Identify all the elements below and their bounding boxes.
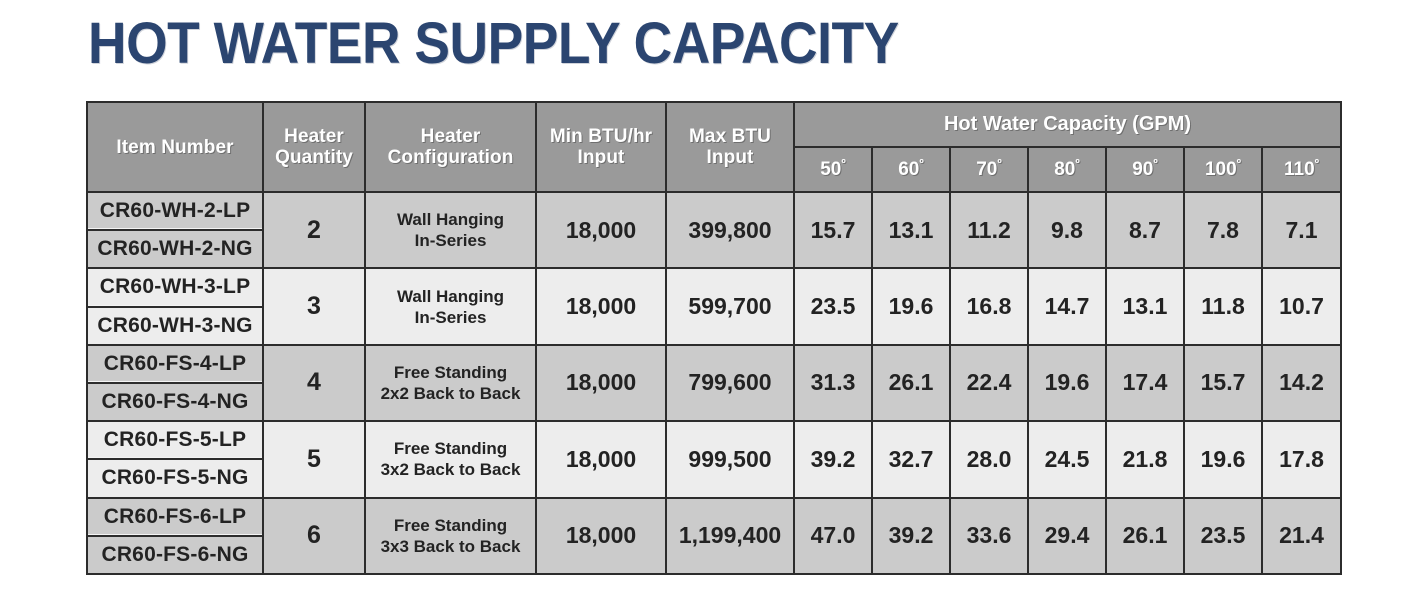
cell-item-number: CR60-WH-2-LP CR60-WH-2-NG bbox=[87, 192, 263, 268]
table-row: CR60-FS-6-LP CR60-FS-6-NG 6 Free Standin… bbox=[87, 498, 1341, 574]
config-line2: In-Series bbox=[366, 230, 535, 251]
cell-max-btu: 799,600 bbox=[666, 345, 794, 421]
cell-heater-quantity: 5 bbox=[263, 421, 365, 497]
col-header-heater-configuration: Heater Configuration bbox=[365, 102, 536, 192]
config-line1: Free Standing bbox=[366, 438, 535, 459]
header-row-primary: Item Number Heater Quantity Heater Confi… bbox=[87, 102, 1341, 147]
cell-min-btu: 18,000 bbox=[536, 498, 666, 574]
cell-gpm-50: 15.7 bbox=[794, 192, 872, 268]
cell-gpm-80: 29.4 bbox=[1028, 498, 1106, 574]
cell-item-number: CR60-FS-4-LP CR60-FS-4-NG bbox=[87, 345, 263, 421]
config-line2: 3x2 Back to Back bbox=[366, 459, 535, 480]
cell-item-number: CR60-FS-6-LP CR60-FS-6-NG bbox=[87, 498, 263, 574]
cell-heater-configuration: Free Standing 2x2 Back to Back bbox=[365, 345, 536, 421]
cell-gpm-70: 33.6 bbox=[950, 498, 1028, 574]
col-header-hot-water-capacity-group: Hot Water Capacity (GPM) bbox=[794, 102, 1341, 147]
config-line1: Free Standing bbox=[366, 362, 535, 383]
cell-min-btu: 18,000 bbox=[536, 268, 666, 344]
cell-gpm-90: 13.1 bbox=[1106, 268, 1184, 344]
config-line2: 2x2 Back to Back bbox=[366, 383, 535, 404]
cell-heater-quantity: 6 bbox=[263, 498, 365, 574]
col-header-heater-configuration-line2: Configuration bbox=[366, 147, 535, 168]
item-number-ng: CR60-FS-4-NG bbox=[88, 384, 262, 420]
capacity-table: Item Number Heater Quantity Heater Confi… bbox=[86, 101, 1342, 575]
config-line1: Free Standing bbox=[366, 515, 535, 536]
cell-max-btu: 399,800 bbox=[666, 192, 794, 268]
cell-heater-quantity: 4 bbox=[263, 345, 365, 421]
cell-gpm-90: 26.1 bbox=[1106, 498, 1184, 574]
item-number-lp: CR60-FS-5-LP bbox=[88, 422, 262, 460]
col-header-temp-100: 100º bbox=[1184, 147, 1262, 192]
temp-110-value: 110 bbox=[1284, 159, 1315, 180]
col-header-temp-110: 110º bbox=[1262, 147, 1341, 192]
cell-gpm-100: 15.7 bbox=[1184, 345, 1262, 421]
cell-gpm-110: 21.4 bbox=[1262, 498, 1341, 574]
cell-gpm-60: 26.1 bbox=[872, 345, 950, 421]
item-number-lp: CR60-FS-4-LP bbox=[88, 346, 262, 384]
cell-heater-quantity: 2 bbox=[263, 192, 365, 268]
cell-gpm-110: 17.8 bbox=[1262, 421, 1341, 497]
item-number-lp: CR60-WH-2-LP bbox=[88, 193, 262, 231]
cell-gpm-70: 22.4 bbox=[950, 345, 1028, 421]
degree-icon: º bbox=[1315, 156, 1319, 170]
cell-gpm-110: 10.7 bbox=[1262, 268, 1341, 344]
cell-heater-configuration: Free Standing 3x3 Back to Back bbox=[365, 498, 536, 574]
cell-min-btu: 18,000 bbox=[536, 192, 666, 268]
cell-max-btu: 999,500 bbox=[666, 421, 794, 497]
table-head: Item Number Heater Quantity Heater Confi… bbox=[87, 102, 1341, 192]
cell-gpm-100: 7.8 bbox=[1184, 192, 1262, 268]
col-header-item-number: Item Number bbox=[87, 102, 263, 192]
col-header-heater-configuration-line1: Heater bbox=[366, 126, 535, 147]
page-title: HOT WATER SUPPLY CAPACITY bbox=[88, 8, 899, 80]
config-line1: Wall Hanging bbox=[366, 286, 535, 307]
cell-item-number: CR60-WH-3-LP CR60-WH-3-NG bbox=[87, 268, 263, 344]
cell-gpm-100: 23.5 bbox=[1184, 498, 1262, 574]
cell-gpm-90: 21.8 bbox=[1106, 421, 1184, 497]
col-header-max-btu: Max BTU Input bbox=[666, 102, 794, 192]
temp-70-value: 70 bbox=[976, 159, 997, 180]
col-header-temp-80: 80º bbox=[1028, 147, 1106, 192]
temp-50-value: 50 bbox=[820, 159, 841, 180]
cell-gpm-110: 7.1 bbox=[1262, 192, 1341, 268]
cell-min-btu: 18,000 bbox=[536, 345, 666, 421]
item-number-ng: CR60-FS-6-NG bbox=[88, 537, 262, 573]
degree-icon: º bbox=[1237, 156, 1241, 170]
col-header-max-btu-line1: Max BTU bbox=[667, 126, 793, 147]
cell-item-number: CR60-FS-5-LP CR60-FS-5-NG bbox=[87, 421, 263, 497]
table-body: CR60-WH-2-LP CR60-WH-2-NG 2 Wall Hanging… bbox=[87, 192, 1341, 574]
cell-gpm-80: 9.8 bbox=[1028, 192, 1106, 268]
cell-max-btu: 1,199,400 bbox=[666, 498, 794, 574]
table-row: CR60-FS-4-LP CR60-FS-4-NG 4 Free Standin… bbox=[87, 345, 1341, 421]
degree-icon: º bbox=[919, 156, 923, 170]
col-header-heater-quantity-line2: Quantity bbox=[264, 147, 364, 168]
cell-gpm-100: 11.8 bbox=[1184, 268, 1262, 344]
col-header-temp-50: 50º bbox=[794, 147, 872, 192]
cell-max-btu: 599,700 bbox=[666, 268, 794, 344]
item-number-lp: CR60-WH-3-LP bbox=[88, 269, 262, 307]
cell-gpm-70: 16.8 bbox=[950, 268, 1028, 344]
temp-80-value: 80 bbox=[1054, 159, 1075, 180]
cell-gpm-70: 11.2 bbox=[950, 192, 1028, 268]
degree-icon: º bbox=[1075, 156, 1079, 170]
cell-gpm-110: 14.2 bbox=[1262, 345, 1341, 421]
item-number-ng: CR60-WH-2-NG bbox=[88, 231, 262, 267]
temp-90-value: 90 bbox=[1132, 159, 1153, 180]
cell-gpm-50: 47.0 bbox=[794, 498, 872, 574]
table-row: CR60-WH-2-LP CR60-WH-2-NG 2 Wall Hanging… bbox=[87, 192, 1341, 268]
cell-gpm-90: 17.4 bbox=[1106, 345, 1184, 421]
cell-gpm-80: 14.7 bbox=[1028, 268, 1106, 344]
cell-min-btu: 18,000 bbox=[536, 421, 666, 497]
cell-gpm-90: 8.7 bbox=[1106, 192, 1184, 268]
cell-gpm-100: 19.6 bbox=[1184, 421, 1262, 497]
cell-gpm-80: 19.6 bbox=[1028, 345, 1106, 421]
config-line2: 3x3 Back to Back bbox=[366, 536, 535, 557]
cell-gpm-50: 23.5 bbox=[794, 268, 872, 344]
cell-gpm-60: 32.7 bbox=[872, 421, 950, 497]
cell-heater-configuration: Free Standing 3x2 Back to Back bbox=[365, 421, 536, 497]
col-header-min-btu: Min BTU/hr Input bbox=[536, 102, 666, 192]
col-header-heater-quantity: Heater Quantity bbox=[263, 102, 365, 192]
config-line2: In-Series bbox=[366, 307, 535, 328]
item-number-ng: CR60-WH-3-NG bbox=[88, 308, 262, 344]
cell-gpm-50: 39.2 bbox=[794, 421, 872, 497]
col-header-min-btu-line2: Input bbox=[537, 147, 665, 168]
col-header-max-btu-line2: Input bbox=[667, 147, 793, 168]
temp-60-value: 60 bbox=[898, 159, 919, 180]
temp-100-value: 100 bbox=[1205, 159, 1237, 180]
degree-icon: º bbox=[1153, 156, 1157, 170]
col-header-heater-quantity-line1: Heater bbox=[264, 126, 364, 147]
cell-heater-configuration: Wall Hanging In-Series bbox=[365, 192, 536, 268]
hot-water-supply-capacity-table: Item Number Heater Quantity Heater Confi… bbox=[86, 101, 1340, 575]
cell-heater-quantity: 3 bbox=[263, 268, 365, 344]
cell-heater-configuration: Wall Hanging In-Series bbox=[365, 268, 536, 344]
cell-gpm-60: 13.1 bbox=[872, 192, 950, 268]
cell-gpm-80: 24.5 bbox=[1028, 421, 1106, 497]
cell-gpm-70: 28.0 bbox=[950, 421, 1028, 497]
table-row: CR60-FS-5-LP CR60-FS-5-NG 5 Free Standin… bbox=[87, 421, 1341, 497]
item-number-ng: CR60-FS-5-NG bbox=[88, 460, 262, 496]
degree-icon: º bbox=[841, 156, 845, 170]
degree-icon: º bbox=[997, 156, 1001, 170]
col-header-temp-70: 70º bbox=[950, 147, 1028, 192]
item-number-lp: CR60-FS-6-LP bbox=[88, 499, 262, 537]
table-row: CR60-WH-3-LP CR60-WH-3-NG 3 Wall Hanging… bbox=[87, 268, 1341, 344]
col-header-item-number-label: Item Number bbox=[88, 137, 262, 158]
cell-gpm-60: 19.6 bbox=[872, 268, 950, 344]
col-header-min-btu-line1: Min BTU/hr bbox=[537, 126, 665, 147]
cell-gpm-60: 39.2 bbox=[872, 498, 950, 574]
col-header-temp-60: 60º bbox=[872, 147, 950, 192]
col-header-temp-90: 90º bbox=[1106, 147, 1184, 192]
config-line1: Wall Hanging bbox=[366, 209, 535, 230]
cell-gpm-50: 31.3 bbox=[794, 345, 872, 421]
